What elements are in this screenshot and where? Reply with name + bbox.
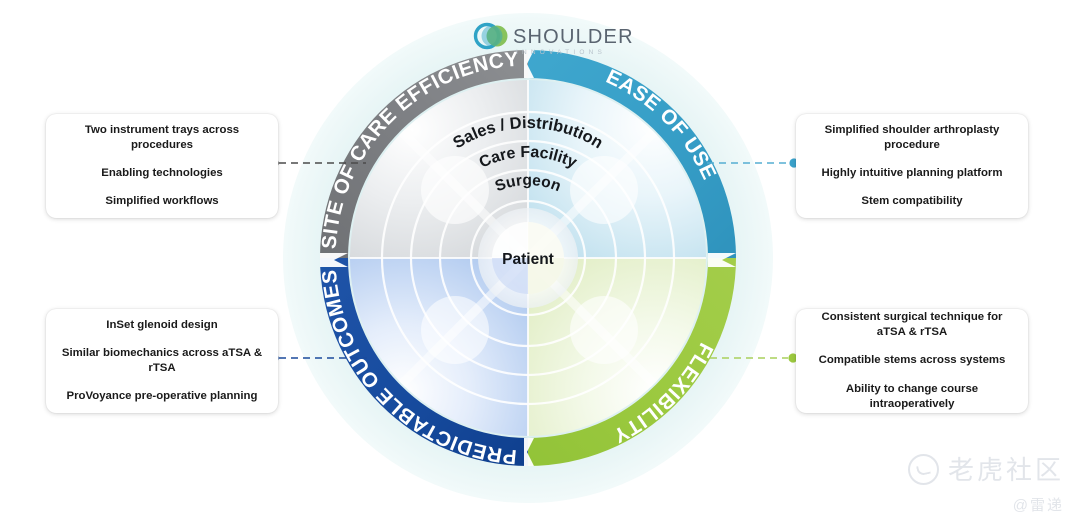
callout-line: Ability to change course intraoperativel… (810, 382, 1014, 412)
site-of-care-efficiency-callout[interactable]: Two instrument trays across procedures E… (46, 114, 278, 218)
callout-line: Compatible stems across systems (819, 353, 1006, 368)
watermark-site: 老虎社区 (908, 454, 1064, 485)
watermark-site-text: 老虎社区 (948, 457, 1064, 483)
callout-line: Stem compatibility (861, 194, 962, 209)
callout-line: InSet glenoid design (106, 318, 217, 333)
diagram-canvas: SITE OF CARE EFFICIENCY EASE OF USE PRED… (0, 0, 1080, 523)
watermark: 老虎社区 @雷递 (908, 454, 1064, 515)
ring-label-patient: Patient (502, 251, 554, 268)
callout-line: Consistent surgical technique for aTSA &… (821, 310, 1002, 340)
callout-line: Enabling technologies (101, 166, 223, 181)
logo-wordmark: SHOULDER (513, 26, 634, 48)
tiger-badge-icon (908, 454, 939, 485)
capabilities-wheel: SITE OF CARE EFFICIENCY EASE OF USE PRED… (0, 0, 1080, 523)
watermark-handle: @雷递 (908, 494, 1064, 515)
callout-line: Two instrument trays across procedures (60, 123, 264, 153)
callout-line: Simplified workflows (105, 194, 218, 209)
ease-of-use-callout[interactable]: Simplified shoulder arthroplasty procedu… (796, 114, 1028, 218)
logo-tagline: INNOVATIONS (516, 49, 606, 56)
flexibility-callout[interactable]: Consistent surgical technique for aTSA &… (796, 309, 1028, 413)
callout-line: Simplified shoulder arthroplasty procedu… (810, 123, 1014, 153)
callout-line: ProVoyance pre-operative planning (67, 389, 258, 404)
callout-line: Highly intuitive planning platform (822, 166, 1003, 181)
callout-line: Similar biomechanics across aTSA & rTSA (60, 346, 264, 376)
predictable-outcomes-callout[interactable]: InSet glenoid design Similar biomechanic… (46, 309, 278, 413)
